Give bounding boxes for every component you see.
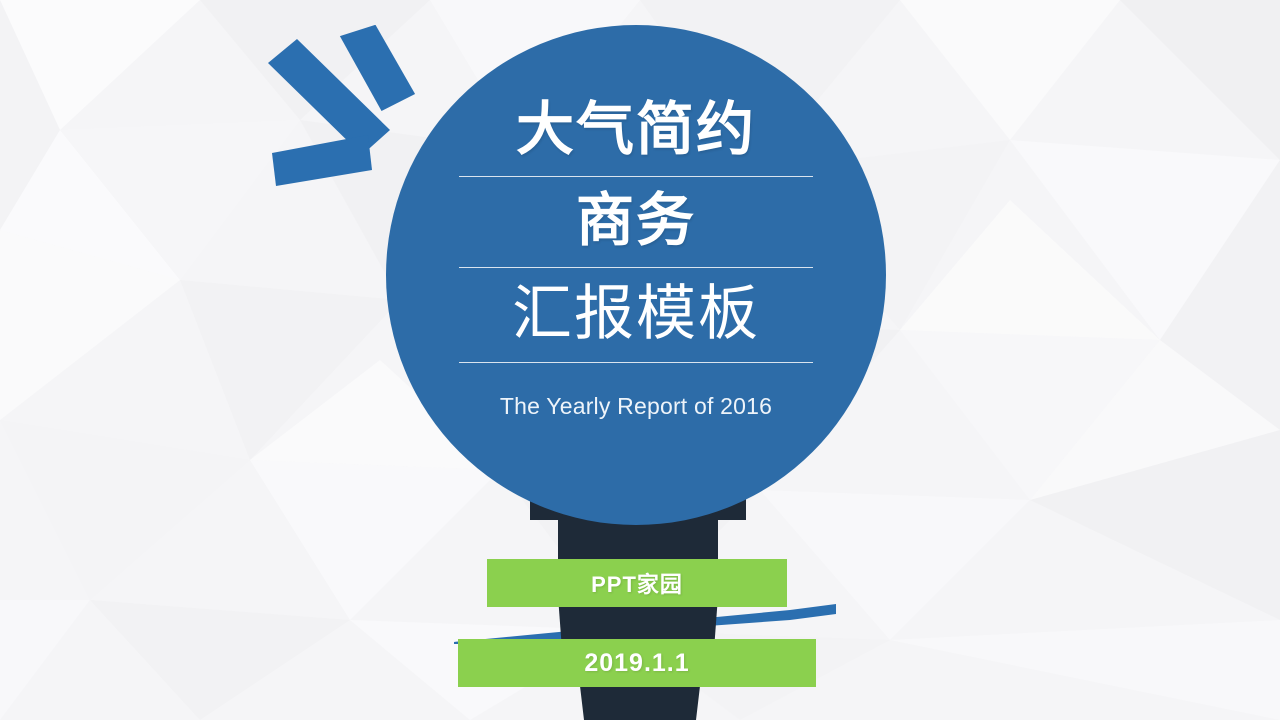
slide-canvas: 大气简约 商务 汇报模板 The Yearly Report of 2016 P… xyxy=(0,0,1280,720)
page-subtitle: The Yearly Report of 2016 xyxy=(500,393,772,420)
date-banner[interactable]: 2019.1.1 xyxy=(458,639,816,687)
hero-circle: 大气简约 商务 汇报模板 The Yearly Report of 2016 xyxy=(386,25,886,525)
page-title-line1: 大气简约 xyxy=(516,99,756,161)
date-banner-label: 2019.1.1 xyxy=(584,649,689,678)
brand-banner[interactable]: PPT家园 xyxy=(487,559,787,607)
page-title-line2: 商务 xyxy=(576,190,696,252)
title-divider-bottom xyxy=(459,362,813,363)
title-divider-middle xyxy=(459,267,813,268)
brand-banner-label: PPT家园 xyxy=(591,567,683,599)
title-divider-top xyxy=(459,176,813,177)
page-title-line3: 汇报模板 xyxy=(512,281,760,347)
